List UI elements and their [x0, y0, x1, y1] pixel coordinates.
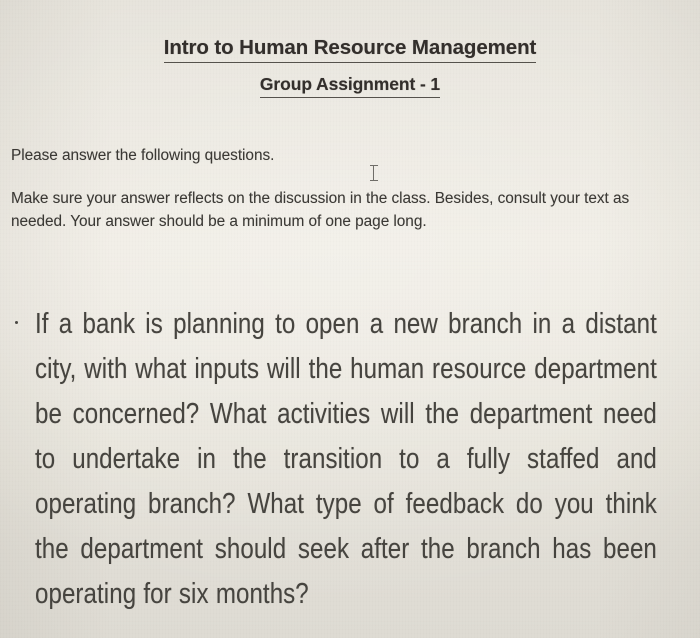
ibeam-bottom-serif	[370, 180, 378, 181]
document-subtitle-line-2-text: Group Assignment - 1	[260, 74, 440, 98]
ibeam-stem	[373, 166, 374, 181]
document-content: Intro to Human Resource Management Group…	[0, 0, 700, 638]
document-title-line-1-text: Intro to Human Resource Management	[164, 36, 537, 63]
question-1-text: If a bank is planning to open a new bran…	[35, 302, 657, 617]
document-page: Intro to Human Resource Management Group…	[0, 0, 700, 638]
intro-instruction-paragraph: Make sure your answer reflects on the di…	[11, 187, 644, 233]
document-title-line-1: Intro to Human Resource Management	[0, 36, 700, 63]
intro-instruction-line: Please answer the following questions.	[11, 144, 631, 167]
list-bullet-marker	[15, 321, 18, 324]
document-subtitle-line-2: Group Assignment - 1	[0, 74, 700, 98]
